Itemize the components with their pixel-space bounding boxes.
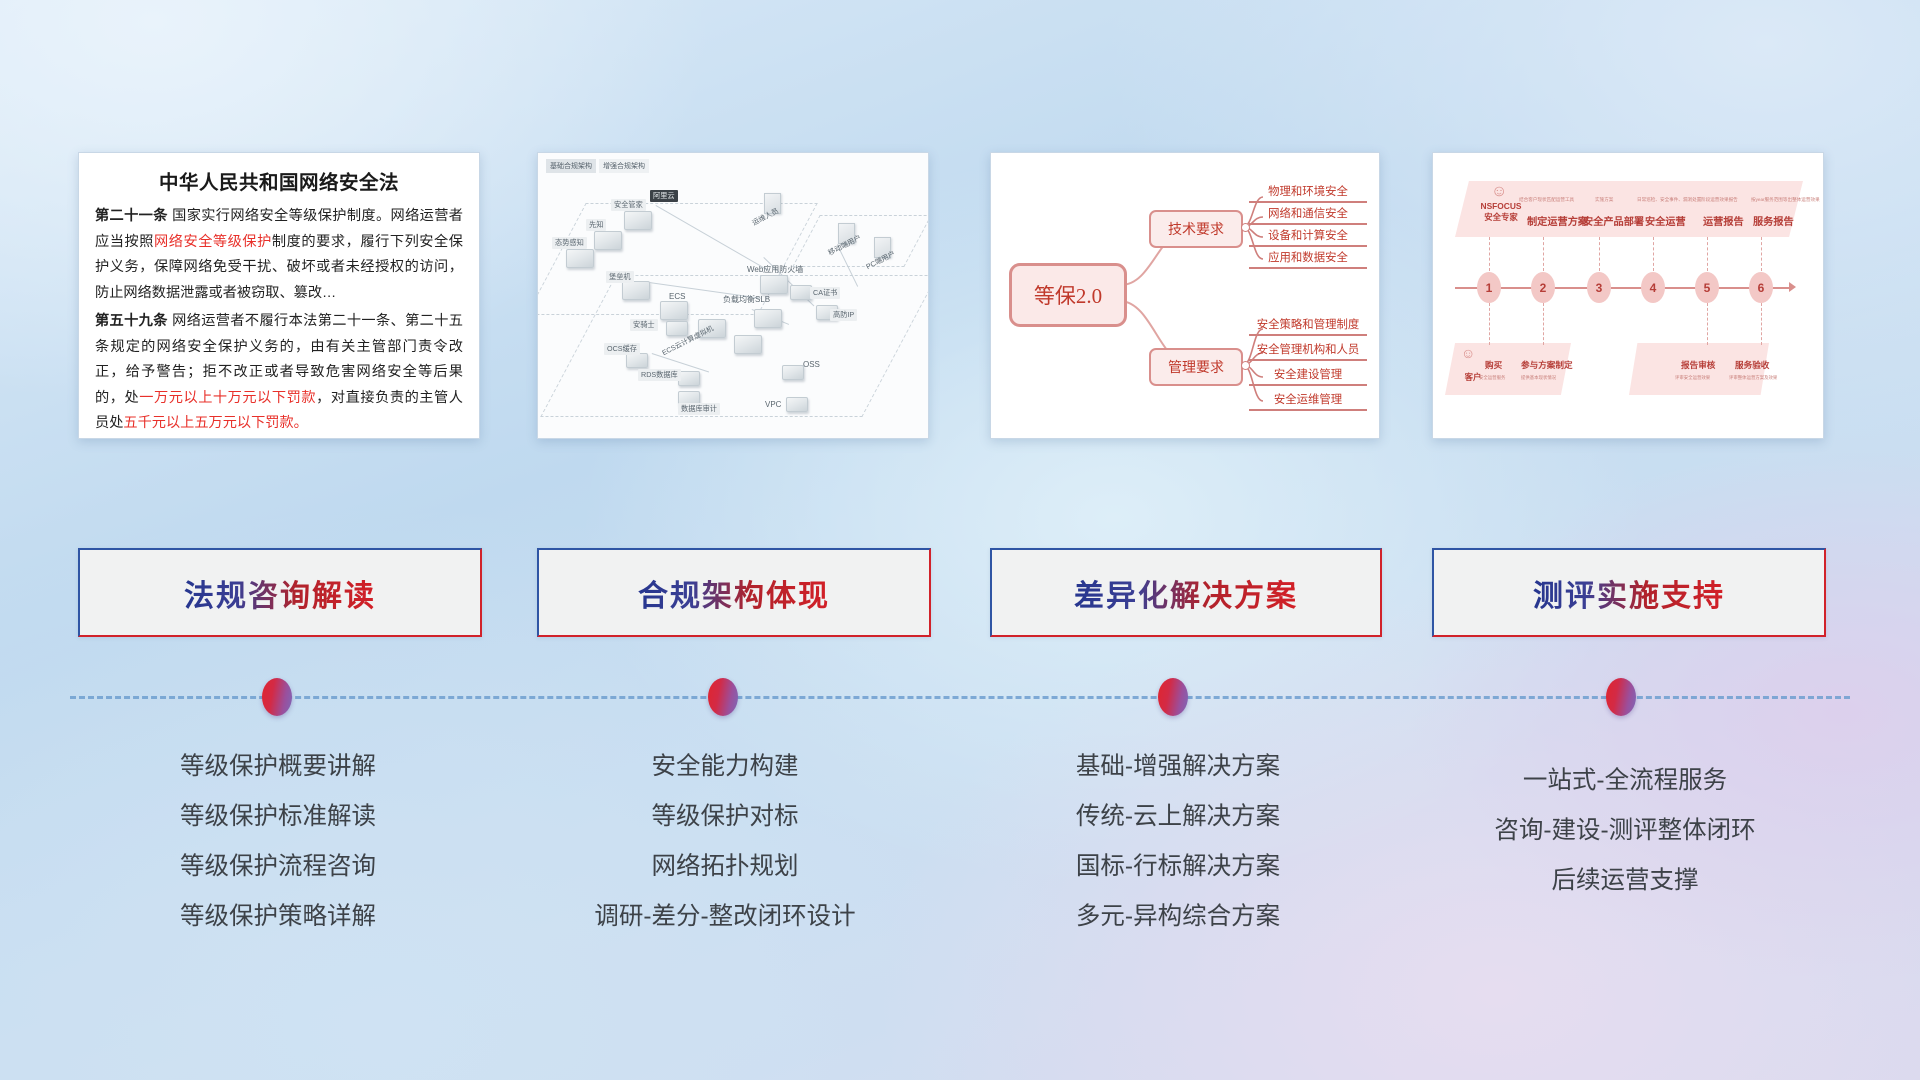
nsfocus-step-2[interactable]: 2 [1531,272,1555,303]
list-item: 传统-云上解决方案 [978,792,1378,842]
mindmap-root: 等保2.0 [1009,263,1127,327]
nsfocus-step-1[interactable]: 1 [1477,272,1501,303]
timeline-dot-3[interactable] [1158,678,1188,716]
law-article-59-lead: 第五十九条 [95,313,168,329]
arch-label-agent: 安骑士 [630,319,658,331]
nsfocus-bottom-title-4: 服务验收 [1735,359,1769,371]
nsfocus-link-4 [1653,237,1655,271]
mindmap-leaf-tech-2: 网络和通信安全 [1249,205,1367,225]
banner-evaluation-support[interactable]: 测评实施支持 [1432,548,1826,637]
arch-icon-waf [760,275,788,294]
arch-label-bastion: 堡垒机 [606,271,634,283]
list-item: 安全能力构建 [525,742,925,792]
law-article-21-lead: 第二十一条 [95,208,168,224]
list-item: 咨询-建设-测评整体闭环 [1425,806,1825,856]
nsfocus-axis-arrow-icon [1789,282,1796,292]
arch-icon-safety-butler [624,211,652,230]
banner-label-2: 合规架构体现 [638,571,830,615]
nsfocus-top-title-2: 安全产品部署 [1583,213,1644,228]
list-column-4: 一站式-全流程服务 咨询-建设-测评整体闭环 后续运营支撑 [1425,756,1825,906]
list-item: 等级保护标准解读 [78,792,478,842]
list-column-3: 基础-增强解决方案 传统-云上解决方案 国标-行标解决方案 多元-异构综合方案 [978,742,1378,942]
arch-icon-vpc [786,397,808,412]
mindmap-leaf-mgmt-2: 安全管理机构和人员 [1249,341,1367,361]
list-item: 等级保护流程咨询 [78,842,478,892]
mindmap-leaf-mgmt-3: 安全建设管理 [1249,366,1367,386]
arch-label-waf: Web应用防火墙 [744,263,806,276]
mindmap-leaf-mgmt-4: 安全运维管理 [1249,391,1367,411]
arch-label-anti-ddos: 高防IP [830,309,857,321]
nsfocus-link-1 [1489,237,1491,271]
arch-label-db-audit: 数据库审计 [678,403,720,415]
list-item: 基础-增强解决方案 [978,742,1378,792]
arch-icon-agent [666,321,688,336]
banner-compliance-architecture[interactable]: 合规架构体现 [537,548,931,637]
arch-label-vpc: VPC [762,399,784,410]
arch-label-xianzhi: 先知 [586,219,606,231]
nsfocus-top-sub-4: 阶段运营效果报告 [1701,197,1738,203]
nsfocus-top-sub-1: 结合客户现状匹配运营工具 [1519,197,1574,203]
mindmap-branch-management: 管理要求 [1149,348,1243,386]
banner-label-4: 测评实施支持 [1533,571,1725,615]
list-column-2: 安全能力构建 等级保护对标 网络拓扑规划 调研-差分-整改闭环设计 [525,742,925,942]
list-item: 等级保护策略详解 [78,892,478,942]
timeline-dot-4[interactable] [1606,678,1636,716]
nsfocus-top-title-5: 服务报告 [1753,213,1794,228]
nsfocus-bottom-sub-3: 评审安全运营效果 [1675,375,1710,381]
arch-icon-ecs [660,301,688,320]
banner-differentiated-solution[interactable]: 差异化解决方案 [990,548,1382,637]
nsfocus-step-6[interactable]: 6 [1749,272,1773,303]
arch-icon-xianzhi [594,231,622,250]
law-title: 中华人民共和国网络安全法 [95,166,463,195]
card-cybersecurity-law[interactable]: 中华人民共和国网络安全法 第二十一条 国家实行网络安全等级保护制度。网络运营者应… [78,152,480,439]
list-item: 多元-异构综合方案 [978,892,1378,942]
nsfocus-bottom-sub-4: 评审整体运营方案及效果 [1729,375,1777,381]
nsfocus-top-sub-3: 日常巡检、安全事件、漏洞处置 [1637,197,1701,203]
law-paragraph-21: 第二十一条 国家实行网络安全等级保护制度。网络运营者应当按照网络安全等级保护制度… [95,204,463,306]
nsfocus-link-6 [1761,237,1763,271]
cards-row: 中华人民共和国网络安全法 第二十一条 国家实行网络安全等级保护制度。网络运营者应… [0,0,1920,450]
nsfocus-top-title-3: 安全运营 [1645,213,1686,228]
law-article-59-red-1: 一万元以上十万元以下罚款 [139,390,316,406]
timeline-dot-2[interactable] [708,678,738,716]
nsfocus-link-2 [1543,237,1545,271]
arch-label-aliyun: 阿里云 [650,190,678,202]
nsfocus-top-sub-5: 按year服务范围等出整体运营效果 [1751,197,1820,203]
nsfocus-axis [1455,287,1791,289]
mindmap-branch-technical: 技术要求 [1149,210,1243,248]
arch-icon-ocs [626,353,648,368]
list-item: 网络拓扑规划 [525,842,925,892]
list-item: 等级保护概要讲解 [78,742,478,792]
card-nsfocus-timeline[interactable]: ☺ NSFOCUS 安全专家 结合客户现状匹配运营工具 制定运营方案 实施方案 … [1432,152,1824,439]
nsfocus-bottom-sub-1: 安全运营服务 [1479,375,1505,381]
timeline-dashed-line [70,696,1850,699]
arch-icon-bastion [622,281,650,300]
arch-label-safety-butler: 安全管家 [611,199,646,211]
timeline-dot-1[interactable] [262,678,292,716]
nsfocus-link-b4 [1761,303,1763,345]
arch-label-slb: 负载均衡SLB [720,293,773,306]
nsfocus-link-5 [1707,237,1709,271]
nsfocus-link-b1 [1489,303,1491,345]
nsfocus-bottom-sub-2: 提供基本现状情况 [1521,375,1556,381]
arch-label-ca: CA证书 [810,287,840,299]
arch-label-rds: RDS数据库 [638,369,681,381]
arch-label-oss: OSS [800,359,823,370]
expert-person-icon: ☺ [1491,183,1507,201]
list-item: 一站式-全流程服务 [1425,756,1825,806]
list-item: 国标-行标解决方案 [978,842,1378,892]
nsfocus-brand: NSFOCUS 安全专家 [1473,201,1529,223]
list-item: 后续运营支撑 [1425,856,1825,906]
arch-icon-ecs-vm-2 [734,335,762,354]
nsfocus-top-title-4: 运营报告 [1703,213,1744,228]
arch-tab-basic[interactable]: 基础合规架构 [546,159,596,173]
banner-label-3: 差异化解决方案 [1074,571,1298,615]
list-item: 调研-差分-整改闭环设计 [525,892,925,942]
mindmap-leaf-tech-4: 应用和数据安全 [1249,249,1367,269]
arch-label-ecs: ECS [666,291,688,302]
arch-label-ocs: OCS缓存 [604,343,640,355]
nsfocus-step-3[interactable]: 3 [1587,272,1611,303]
list-item: 等级保护对标 [525,792,925,842]
nsfocus-link-3 [1599,237,1601,271]
mindmap-leaf-mgmt-1: 安全策略和管理制度 [1249,316,1367,336]
customer-person-icon: ☺ [1461,345,1475,361]
arch-tabs: 基础合规架构 增强合规架构 [546,159,649,173]
list-column-1: 等级保护概要讲解 等级保护标准解读 等级保护流程咨询 等级保护策略详解 [78,742,478,942]
mindmap-leaf-tech-3: 设备和计算安全 [1249,227,1367,247]
nsfocus-link-b2 [1543,303,1545,345]
arch-tab-enhanced[interactable]: 增强合规架构 [599,159,649,173]
nsfocus-step-5[interactable]: 5 [1695,272,1719,303]
arch-icon-ca [790,285,812,300]
law-paragraph-59: 第五十九条 网络运营者不履行本法第二十一条、第二十五条规定的网络安全保护义务的，… [95,309,463,437]
nsfocus-top-title-1: 制定运营方案 [1527,213,1588,228]
card-cloud-architecture[interactable]: 基础合规架构 增强合规架构 安全管家 先知 [537,152,929,439]
nsfocus-bottom-title-2: 参与方案制定 [1521,359,1573,371]
card-mindmap-dengbao[interactable]: 等保2.0 技术要求 管理要求 物理和环境安全 网络和通信安全 设备和计算安全 … [990,152,1380,439]
mindmap-leaf-tech-1: 物理和环境安全 [1249,183,1367,203]
nsfocus-link-b3 [1707,303,1709,345]
banner-regulation-consulting[interactable]: 法规咨询解读 [78,548,482,637]
banner-label-1: 法规咨询解读 [184,571,376,615]
nsfocus-top-sub-2: 实施方案 [1595,197,1613,203]
arch-icon-slb [754,309,782,328]
nsfocus-step-4[interactable]: 4 [1641,272,1665,303]
arch-icon-rds [678,371,700,386]
nsfocus-brand-sub: 安全专家 [1473,212,1529,223]
arch-label-situational-awareness: 态势感知 [552,237,587,249]
nsfocus-bottom-title-3: 报告审核 [1681,359,1715,371]
law-article-21-red: 网络安全等级保护 [154,234,272,250]
law-article-59-red-2: 五千元以上五万元以下罚款。 [123,415,307,431]
nsfocus-bottom-title-1: 购买 [1485,359,1502,371]
arch-icon-situational-awareness [566,249,594,268]
